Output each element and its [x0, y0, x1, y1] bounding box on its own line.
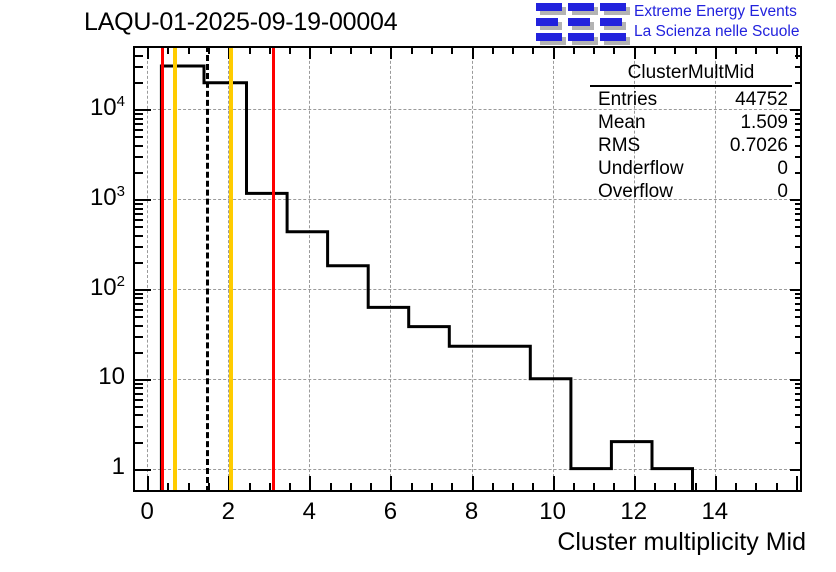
y-tick-label: 1: [112, 453, 125, 481]
eee-logo-letters: [536, 3, 628, 43]
stats-row: RMS0.7026: [590, 134, 792, 157]
stats-key: Overflow: [598, 180, 673, 203]
x-tick-label: 12: [594, 498, 674, 526]
stats-row: Overflow0: [590, 180, 792, 203]
eee-letter-3: [600, 3, 626, 41]
stats-box: ClusterMultMid Entries44752Mean1.509RMS0…: [590, 62, 792, 203]
page-title: LAQU-01-2025-09-19-00004: [84, 8, 397, 37]
stats-row: Entries44752: [590, 88, 792, 111]
eee-letter-2: [568, 3, 594, 41]
eee-logo-line1: Extreme Energy Events: [634, 2, 799, 22]
stats-value: 1.509: [740, 111, 788, 134]
root-canvas: LAQU-01-2025-09-19-00004 Extreme Energy …: [0, 0, 836, 572]
stats-value: 44752: [735, 88, 788, 111]
x-tick-label: 2: [188, 498, 268, 526]
x-axis-title: Cluster multiplicity Mid: [557, 528, 806, 557]
y-tick-label: 102: [90, 273, 125, 302]
eee-logo-text: Extreme Energy Events La Scienza nelle S…: [634, 2, 799, 42]
stats-key: RMS: [598, 134, 640, 157]
y-tick-label: 10: [98, 363, 125, 391]
stats-value: 0.7026: [730, 134, 788, 157]
eee-letter-1: [536, 3, 562, 41]
stats-title: ClusterMultMid: [590, 62, 792, 87]
stats-key: Underflow: [598, 157, 684, 180]
stats-row: Underflow0: [590, 157, 792, 180]
x-tick-label: 4: [269, 498, 349, 526]
stats-key: Mean: [598, 111, 646, 134]
eee-logo: Extreme Energy Events La Scienza nelle S…: [536, 2, 832, 44]
eee-logo-line2: La Scienza nelle Scuole: [634, 22, 799, 42]
y-tick-label: 103: [90, 183, 125, 212]
stats-value: 0: [777, 180, 788, 203]
x-tick-label: 0: [107, 498, 187, 526]
stats-key: Entries: [598, 88, 657, 111]
y-tick-label: 104: [90, 93, 125, 122]
stats-row: Mean1.509: [590, 111, 792, 134]
x-tick-label: 6: [350, 498, 430, 526]
stats-rows: Entries44752Mean1.509RMS0.7026Underflow0…: [590, 88, 792, 203]
x-tick-label: 8: [432, 498, 512, 526]
x-tick-label: 14: [675, 498, 755, 526]
x-tick-label: 10: [513, 498, 593, 526]
stats-value: 0: [777, 157, 788, 180]
